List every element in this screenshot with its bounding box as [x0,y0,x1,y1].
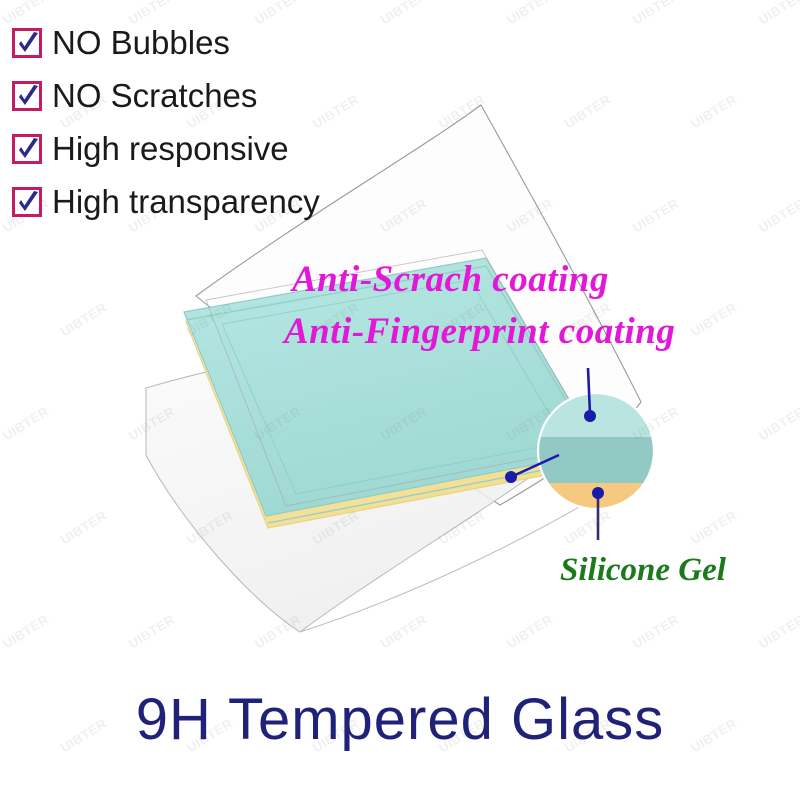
checklist-item[interactable]: High transparency [12,175,320,228]
silicone-gel-label: Silicone Gel [560,552,726,589]
checkmark-icon [16,190,40,216]
checklist-item-label: High responsive [52,132,289,165]
checkbox-checked-icon[interactable] [12,187,42,217]
feature-checklist: NO Bubbles NO Scratches High responsive [12,16,320,228]
checkbox-checked-icon[interactable] [12,28,42,58]
anti-scratch-coating-label: Anti-Scrach coating [292,258,609,301]
checklist-item-label: NO Bubbles [52,26,230,59]
checkmark-icon [16,31,40,57]
checklist-item[interactable]: NO Bubbles [12,16,320,69]
anti-fingerprint-coating-label: Anti-Fingerprint coating [284,310,675,353]
checkmark-icon [16,84,40,110]
checklist-item-label: NO Scratches [52,79,257,112]
leader-line-silicone-gel [592,487,604,540]
checklist-item-label: High transparency [52,185,320,218]
checkmark-icon [16,137,40,163]
checkbox-checked-icon[interactable] [12,81,42,111]
product-infographic: NO Bubbles NO Scratches High responsive [0,0,800,800]
checklist-item[interactable]: NO Scratches [12,69,320,122]
product-title: 9H Tempered Glass [0,686,800,753]
checklist-item[interactable]: High responsive [12,122,320,175]
checkbox-checked-icon[interactable] [12,134,42,164]
